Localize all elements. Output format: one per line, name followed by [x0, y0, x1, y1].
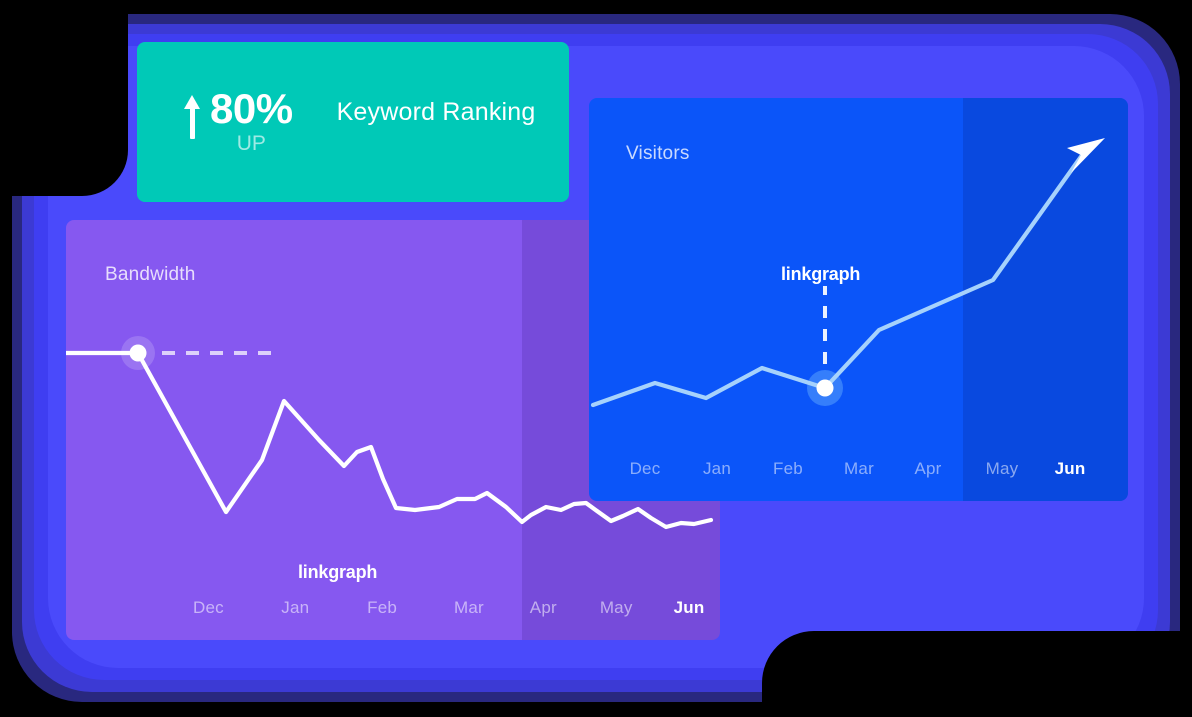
keyword-direction-label: UP — [237, 131, 266, 157]
bandwidth-chart-title: Bandwidth — [105, 264, 196, 286]
visitors-chart-title: Visitors — [626, 143, 690, 165]
glow-notch-bottom-right — [762, 631, 1192, 717]
keyword-ranking-card[interactable]: 80% UP Keyword Ranking — [137, 42, 569, 202]
glow-notch-top-left — [0, 0, 128, 196]
keyword-ranking-stat: 80% UP — [184, 87, 293, 157]
keyword-percent-value: 80% — [210, 87, 293, 131]
visitors-marker-dot — [817, 380, 834, 397]
visitors-card[interactable]: Visitors linkgraph Dec Jan Feb Mar Apr M… — [589, 98, 1128, 501]
keyword-ranking-title: Keyword Ranking — [337, 98, 536, 127]
arrow-up-icon — [184, 95, 201, 139]
dashboard-illustration: 80% UP Keyword Ranking Bandwidth linkgra… — [0, 0, 1192, 717]
bandwidth-brand-label: linkgraph — [298, 562, 377, 583]
visitors-brand-label: linkgraph — [781, 264, 860, 285]
bandwidth-marker-dot — [130, 345, 147, 362]
keyword-percent-group: 80% UP — [210, 87, 293, 157]
